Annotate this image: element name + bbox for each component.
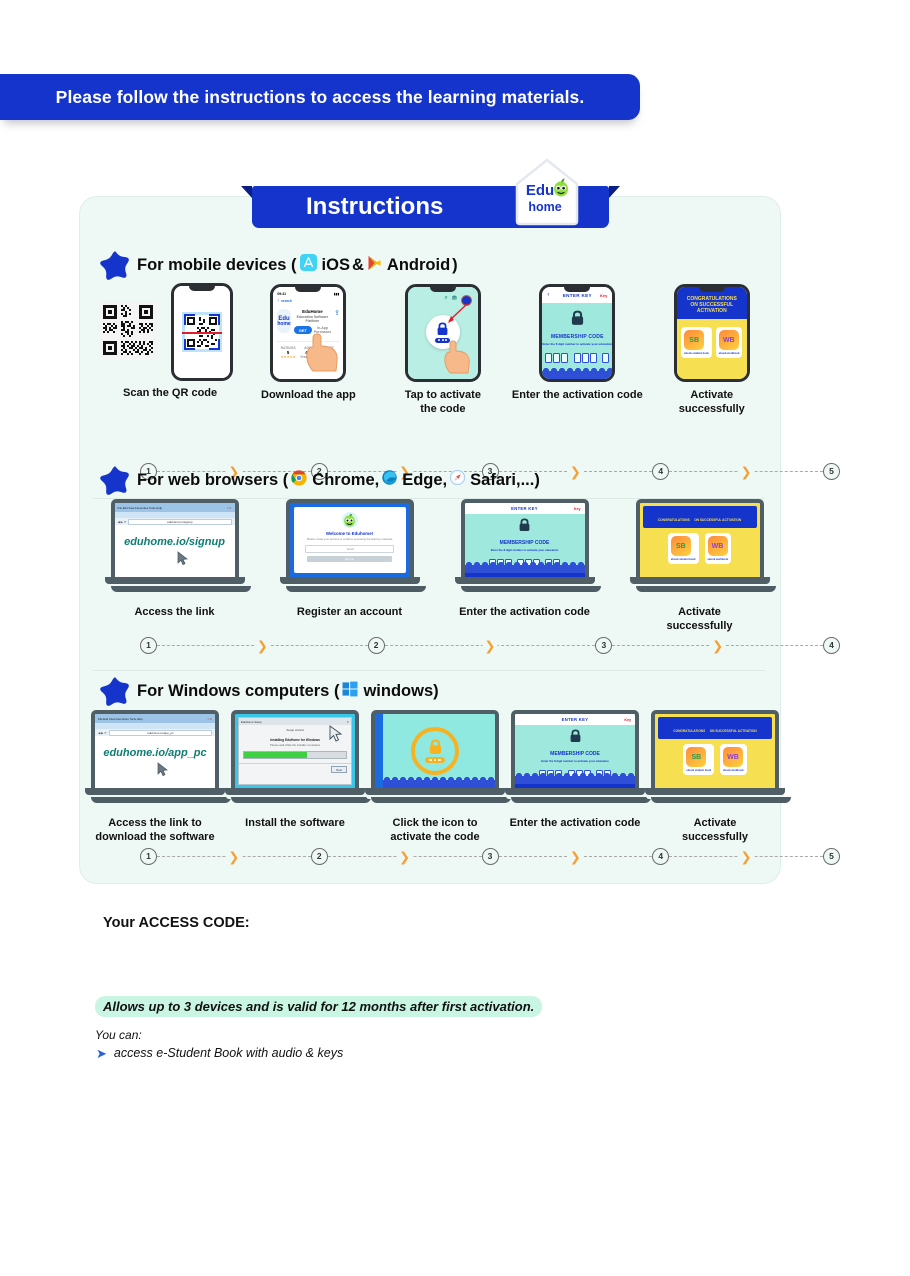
cursor-icon [177, 551, 189, 566]
membership-code-sub: Enter the 8 digit number to activate you… [542, 342, 612, 346]
enter-key-header: ENTER KEY [511, 506, 538, 511]
congrats-line1: CONGRATULATIONS [658, 518, 690, 522]
step-number: 3 [595, 637, 612, 654]
section-divider [93, 670, 765, 671]
arrow-icon: ❯ [226, 850, 241, 863]
status-time: 09:41 [277, 292, 286, 296]
email-field[interactable]: Email [305, 545, 394, 553]
google-play-icon [367, 255, 382, 276]
logo-mini: Key [600, 293, 607, 298]
section-windows-title: For Windows computers ( windows) [137, 681, 439, 702]
laptop-enter-key: ENTER KEY Key MEMBERSHIP CODE Enter the … [511, 710, 639, 803]
section-web: For web browsers ( Chrome, [79, 463, 779, 497]
step-card: CONGRATULATIONS ON SUCCESSFUL ACTIVATION… [645, 710, 785, 845]
cursor-icon [328, 724, 348, 744]
section-web-header: For web browsers ( Chrome, [79, 463, 779, 497]
status-icons: ▮▮▮ [334, 292, 340, 296]
ebook-tile-sb[interactable]: SB ebook student book [668, 533, 699, 564]
qr-code-image [99, 301, 157, 364]
step-caption: Download the app [241, 389, 375, 403]
arrow-icon: ❯ [568, 850, 583, 863]
banner-text: Please follow the instructions to access… [56, 87, 585, 108]
step-caption: Install the software [225, 817, 365, 831]
link-text[interactable]: eduhome.io/app_pc [103, 747, 206, 759]
page-title: Instructions [306, 193, 443, 221]
step-card: ⌕ ⛃ [376, 284, 510, 417]
windows-steps: File Edit View Favourites Tools Help ▫▫✕… [79, 710, 791, 845]
step-card: ‹ ENTER KEY Key MEMBERSHIP CODE Enter th… [510, 284, 644, 417]
installer-title: EduHome Setup [241, 720, 262, 724]
phone-enter-key: ‹ ENTER KEY Key MEMBERSHIP CODE Enter th… [539, 284, 615, 382]
section-windows-header: For Windows computers ( windows) [79, 674, 779, 708]
step-number: 4 [652, 848, 669, 865]
lock-app-icon[interactable] [411, 727, 459, 775]
step-caption: Activate successfully [645, 817, 785, 845]
chrome-icon [291, 470, 307, 491]
membership-code-title: MEMBERSHIP CODE [515, 751, 635, 757]
eduhome-mascot-icon [342, 512, 358, 528]
svg-text:Edu: Edu [526, 182, 554, 199]
step-card: File Edit View Favourites Tools Help ▫▫✕… [85, 710, 225, 845]
register-sub: Please create your account to continue a… [304, 538, 396, 541]
arrow-icon: ❯ [397, 850, 412, 863]
step-card: Scan the QR code [99, 284, 241, 417]
link-text[interactable]: eduhome.io/signup [124, 536, 225, 548]
step-caption: Enter the activation code [505, 817, 645, 831]
step-caption: Activate successfully [625, 606, 775, 634]
section-mobile-title: For mobile devices ( iOS & [137, 254, 458, 276]
laptop-enter-key: ENTER KEY Key MEMBERSHIP CODE Enter the … [461, 499, 589, 592]
web-steps: File Edit View Favourites Tools Help ▫▫✕… [79, 499, 795, 634]
url-bar[interactable]: eduhome.io/signup [128, 519, 231, 525]
step-caption: Activate successfully [645, 389, 779, 417]
validity-note: Allows up to 3 devices and is valid for … [95, 996, 542, 1017]
step-card: CONGRATULATIONS ON SUCCESSFUL ACTIVATION… [645, 284, 779, 417]
app-subtitle: Education Software Platform [294, 315, 331, 324]
step-card: Welcome to Eduhome! Please create your a… [275, 499, 425, 634]
access-code-label: Your ACCESS CODE: [103, 915, 250, 931]
benefit-list-item: ➤ access e-Student Book with audio & key… [96, 1046, 343, 1060]
red-arrow-icon [443, 302, 469, 326]
instruction-banner: Please follow the instructions to access… [0, 74, 640, 120]
cursor-icon [157, 762, 169, 777]
step-card: ENTER KEY Key MEMBERSHIP CODE Enter the … [505, 710, 645, 845]
url-bar[interactable]: eduhome.io/app_pc [109, 730, 212, 736]
congrats-line2: ON SUCCESSFUL ACTIVATION [710, 729, 757, 733]
app-store-icon [300, 254, 317, 276]
section-mobile: For mobile devices ( iOS & [79, 248, 779, 282]
blue-star-icon [100, 250, 131, 280]
back-chevron-icon: ‹ [277, 298, 279, 304]
eduhome-logo: Edu home [514, 158, 580, 226]
blue-star-icon [100, 465, 131, 495]
logo-mini: Key [624, 718, 631, 722]
step-caption: Click the icon to activate the code [365, 817, 505, 845]
register-title: Welcome to Eduhome! [326, 531, 373, 536]
enter-key-header: ENTER KEY [562, 717, 589, 722]
congrats-line2: ON SUCCESSFUL ACTIVATION [680, 302, 744, 314]
svg-text:home: home [528, 200, 561, 214]
step-caption: Scan the QR code [99, 387, 241, 401]
step-card: 09:41 ▮▮▮ ‹ search Edu home [241, 284, 375, 417]
ebook-tile-wb[interactable]: WB ebook workbook [716, 327, 743, 358]
step-caption: Access the link to download the software [85, 817, 225, 845]
step-number: 1 [140, 637, 157, 654]
phone-tap-activate: ⌕ ⛃ [405, 284, 481, 382]
you-can-label: You can: [95, 1028, 142, 1042]
step-number: 1 [140, 848, 157, 865]
phone-app-store: 09:41 ▮▮▮ ‹ search Edu home [270, 284, 346, 382]
step-card: ENTER KEY Key MEMBERSHIP CODE Enter the … [450, 499, 600, 634]
membership-code-title: MEMBERSHIP CODE [542, 334, 612, 340]
ebook-tile-wb[interactable]: WB ebook workbook [705, 533, 732, 564]
blue-star-icon [100, 676, 131, 706]
step-card: Click the icon to activate the code [365, 710, 505, 845]
membership-code-sub: Enter the 8 digit number to activate you… [515, 759, 635, 763]
step-caption: Access the link [100, 606, 250, 620]
ebook-tile-sb[interactable]: SB ebook student book [683, 744, 714, 775]
logo-mini: Key [574, 507, 581, 511]
congrats-line1: CONGRATULATIONS [673, 729, 705, 733]
mobile-steps: Scan the QR code 09:41 ▮▮▮ ‹ search [79, 284, 779, 417]
step-card: CONGRATULATIONS ON SUCCESSFUL ACTIVATION… [625, 499, 775, 634]
app-icon: Edu home [277, 309, 290, 333]
phone-congrats: CONGRATULATIONS ON SUCCESSFUL ACTIVATION… [674, 284, 750, 382]
laptop-click-icon [371, 710, 499, 803]
panel-content: For mobile devices ( iOS & [79, 196, 779, 882]
arrow-icon: ❯ [255, 639, 270, 652]
edge-icon [382, 470, 397, 490]
step-caption: Register an account [275, 606, 425, 620]
safari-icon [450, 470, 465, 490]
laptop-access-link: File Edit View Favourites Tools Help ▫▫✕… [111, 499, 239, 592]
back-chevron-icon[interactable]: ‹ [547, 292, 549, 298]
laptop-congrats: CONGRATULATIONS ON SUCCESSFUL ACTIVATION… [636, 499, 764, 592]
step-number: 2 [311, 848, 328, 865]
lock-icon [570, 310, 585, 326]
hand-pointer-icon [304, 333, 340, 373]
step-card: File Edit View Favourites Tools Help ▫▫✕… [100, 499, 250, 634]
section-web-title: For web browsers ( Chrome, [137, 470, 540, 491]
enter-key-header: ENTER KEY [563, 293, 592, 298]
phone-qr-scanner [171, 283, 233, 381]
arrow-icon: ❯ [739, 850, 754, 863]
laptop-congrats: CONGRATULATIONS ON SUCCESSFUL ACTIVATION… [651, 710, 779, 803]
hand-pointer-icon [442, 340, 470, 374]
step-number: 5 [823, 463, 840, 480]
congrats-line2: ON SUCCESSFUL ACTIVATION [694, 518, 741, 522]
arrow-icon: ❯ [710, 639, 725, 652]
step-number: 4 [823, 637, 840, 654]
search-label: search [281, 299, 292, 303]
section-windows: For Windows computers ( windows) [79, 674, 779, 708]
windows-step-connector: 1 ❯ 2 ❯ 3 ❯ 4 ❯ 5 [79, 846, 901, 866]
windows-icon [342, 681, 358, 702]
share-icon: ⇪ [334, 309, 340, 334]
step-number: 2 [368, 637, 385, 654]
close-icon[interactable]: ✕ [346, 720, 349, 724]
progress-bar [243, 751, 347, 759]
arrow-icon: ❯ [483, 639, 498, 652]
installer-next-button[interactable]: Next [331, 766, 347, 773]
lock-icon [569, 729, 582, 743]
bullet-arrow-icon: ➤ [96, 1047, 107, 1060]
lock-icon [518, 518, 531, 532]
step-caption: Enter the activation code [510, 389, 644, 403]
web-step-connector: 1 ❯ 2 ❯ 3 ❯ 4 [79, 635, 901, 655]
step-number: 3 [482, 848, 499, 865]
membership-code-sub: Enter the 8 digit number to activate you… [465, 548, 585, 552]
section-mobile-header: For mobile devices ( iOS & [79, 248, 779, 282]
laptop-download-link: File Edit View Favourites Tools Help ▫▫✕… [91, 710, 219, 803]
ebook-tile-sb[interactable]: SB ebook student book [681, 327, 712, 358]
laptop-installer: EduHome Setup ✕ Setup wizard Installing … [231, 710, 359, 803]
step-caption: Enter the activation code [450, 606, 600, 620]
ebook-tile-wb[interactable]: WB ebook workbook [720, 744, 747, 775]
step-caption: Tap to activate the code [376, 389, 510, 417]
laptop-register: Welcome to Eduhome! Please create your a… [286, 499, 414, 592]
membership-code-title: MEMBERSHIP CODE [465, 540, 585, 546]
qr-scan-line [182, 332, 222, 334]
signup-button[interactable]: Sign up [307, 556, 392, 562]
step-number: 5 [823, 848, 840, 865]
benefit-text: access e-Student Book with audio & keys [114, 1046, 343, 1060]
step-card: EduHome Setup ✕ Setup wizard Installing … [225, 710, 365, 845]
